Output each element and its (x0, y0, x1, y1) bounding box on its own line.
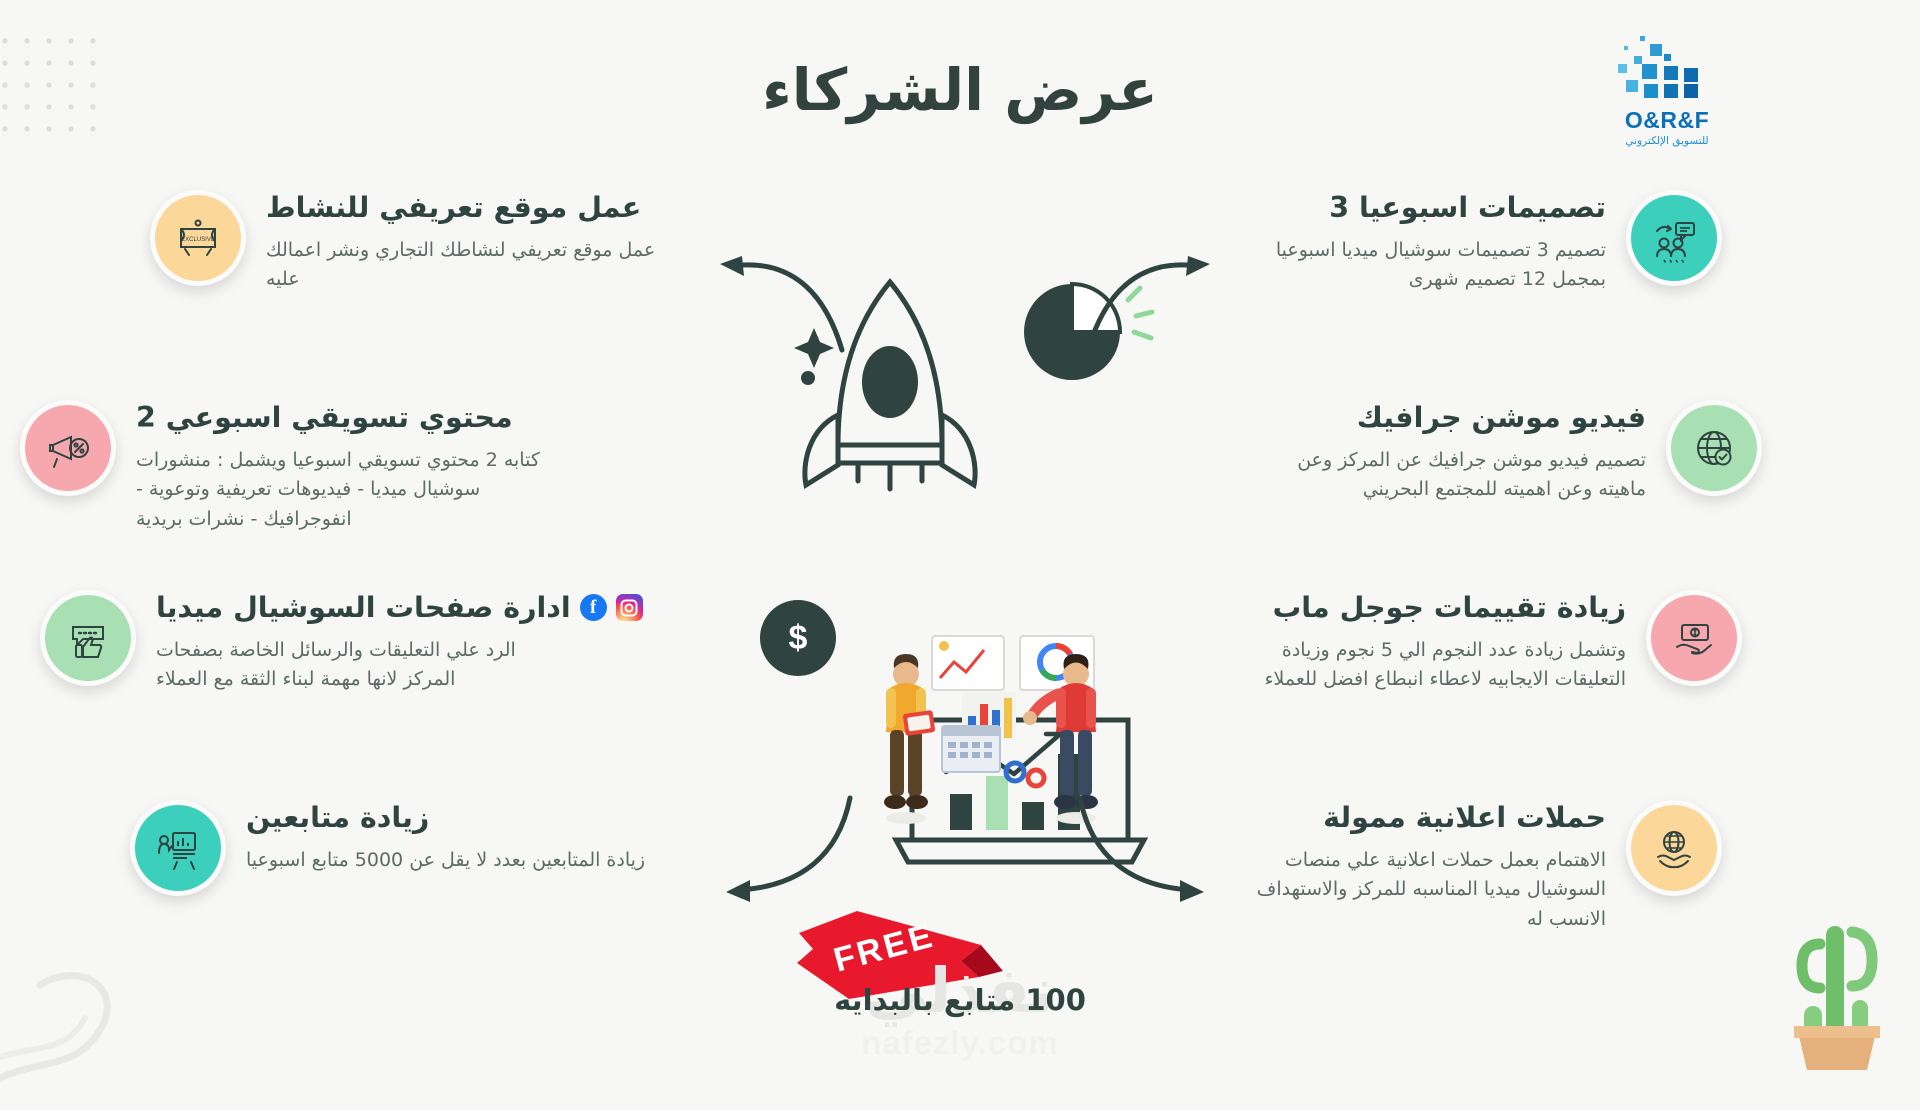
feature-body: تصميم 3 تصميمات سوشيال ميديا اسبوعيا بمج… (1216, 236, 1606, 295)
feature-heading: تصميمات اسبوعيا 3 (1216, 190, 1606, 226)
feature-heading: ادارة صفحات السوشيال ميديا (156, 590, 571, 626)
instagram-icon[interactable] (616, 594, 643, 621)
arrow-to-bottom-right (1070, 790, 1220, 910)
infographic-canvas: عرض الشركاء O&R&F للتسويق الإلكتروني (0, 0, 1920, 1080)
feature-heading: زيادة تقييمات جوجل ماب (1236, 590, 1626, 626)
logo-name: O&R&F (1602, 107, 1732, 134)
feature-body: تصميم فيديو موشن جرافيك عن المركز وعن ما… (1256, 446, 1646, 505)
feature-item-right-2[interactable]: فيديو موشن جرافيك تصميم فيديو موشن جرافي… (1256, 400, 1762, 505)
dollar-badge-icon: $ (760, 600, 836, 676)
feature-heading-with-socials: ادارة صفحات السوشيال ميديا (156, 590, 556, 626)
feature-item-left-4[interactable]: زيادة متابعين زيادة المتابعين بعدد لا يق… (130, 800, 666, 896)
logo-subtitle: للتسويق الإلكتروني (1602, 135, 1732, 147)
decorative-scribble (0, 930, 190, 1110)
people-chat-review-icon (1626, 190, 1722, 286)
arrow-to-bottom-left (710, 790, 860, 910)
feature-item-right-3[interactable]: زيادة تقييمات جوجل ماب وتشمل زيادة عدد ا… (1236, 590, 1742, 695)
presentation-chart-icon (130, 800, 226, 896)
svg-text:EXCLUSIVE: EXCLUSIVE (181, 237, 215, 243)
globe-check-icon (1666, 400, 1762, 496)
arrow-to-top-left (710, 250, 850, 360)
megaphone-discount-icon (20, 400, 116, 496)
feature-body: عمل موقع تعريفي لنشاطك التجاري ونشر اعما… (266, 236, 656, 295)
feature-heading: فيديو موشن جرافيك (1256, 400, 1646, 436)
feature-heading: زيادة متابعين (246, 800, 666, 836)
feature-body: وتشمل زيادة عدد النجوم الي 5 نجوم وزيادة… (1236, 636, 1626, 695)
hand-globe-icon (1626, 800, 1722, 896)
brand-logo: O&R&F للتسويق الإلكتروني (1602, 30, 1732, 147)
offer-footer-text: 100 متابع بالبدايه (0, 983, 1920, 1017)
watermark-domain: nafezly.com (0, 1024, 1920, 1062)
feature-item-left-2[interactable]: محتوي تسويقي اسبوعي 2 كتابه 2 محتوي تسوي… (20, 400, 556, 534)
feature-item-right-4[interactable]: حملات اعلانية ممولة الاهتمام بعمل حملات … (1216, 800, 1722, 934)
feature-heading: حملات اعلانية ممولة (1216, 800, 1606, 836)
ticket-exclusive-icon: EXCLUSIVE (150, 190, 246, 286)
arrow-to-top-right (1080, 250, 1220, 360)
dollar-symbol: $ (789, 619, 808, 658)
feature-body: زيادة المتابعين بعدد لا يقل عن 5000 متاب… (246, 846, 666, 875)
feature-item-left-1[interactable]: EXCLUSIVE عمل موقع تعريفي للنشاط عمل موق… (150, 190, 656, 295)
feature-body: الاهتمام بعمل حملات اعلانية علي منصات ال… (1216, 846, 1606, 934)
logo-pixel-mark (1612, 30, 1722, 105)
hand-money-icon (1646, 590, 1742, 686)
feature-item-left-3[interactable]: ادارة صفحات السوشيال ميديا الرد علي التع… (40, 590, 556, 695)
feature-heading: عمل موقع تعريفي للنشاط (266, 190, 656, 226)
thumbs-up-rating-icon (40, 590, 136, 686)
facebook-icon[interactable] (580, 594, 607, 621)
feature-body: كتابه 2 محتوي تسويقي اسبوعيا ويشمل : منش… (136, 446, 556, 534)
feature-heading: محتوي تسويقي اسبوعي 2 (136, 400, 556, 436)
feature-body: الرد علي التعليقات والرسائل الخاصة بصفحا… (156, 636, 556, 695)
feature-item-right-1[interactable]: تصميمات اسبوعيا 3 تصميم 3 تصميمات سوشيال… (1216, 190, 1722, 295)
